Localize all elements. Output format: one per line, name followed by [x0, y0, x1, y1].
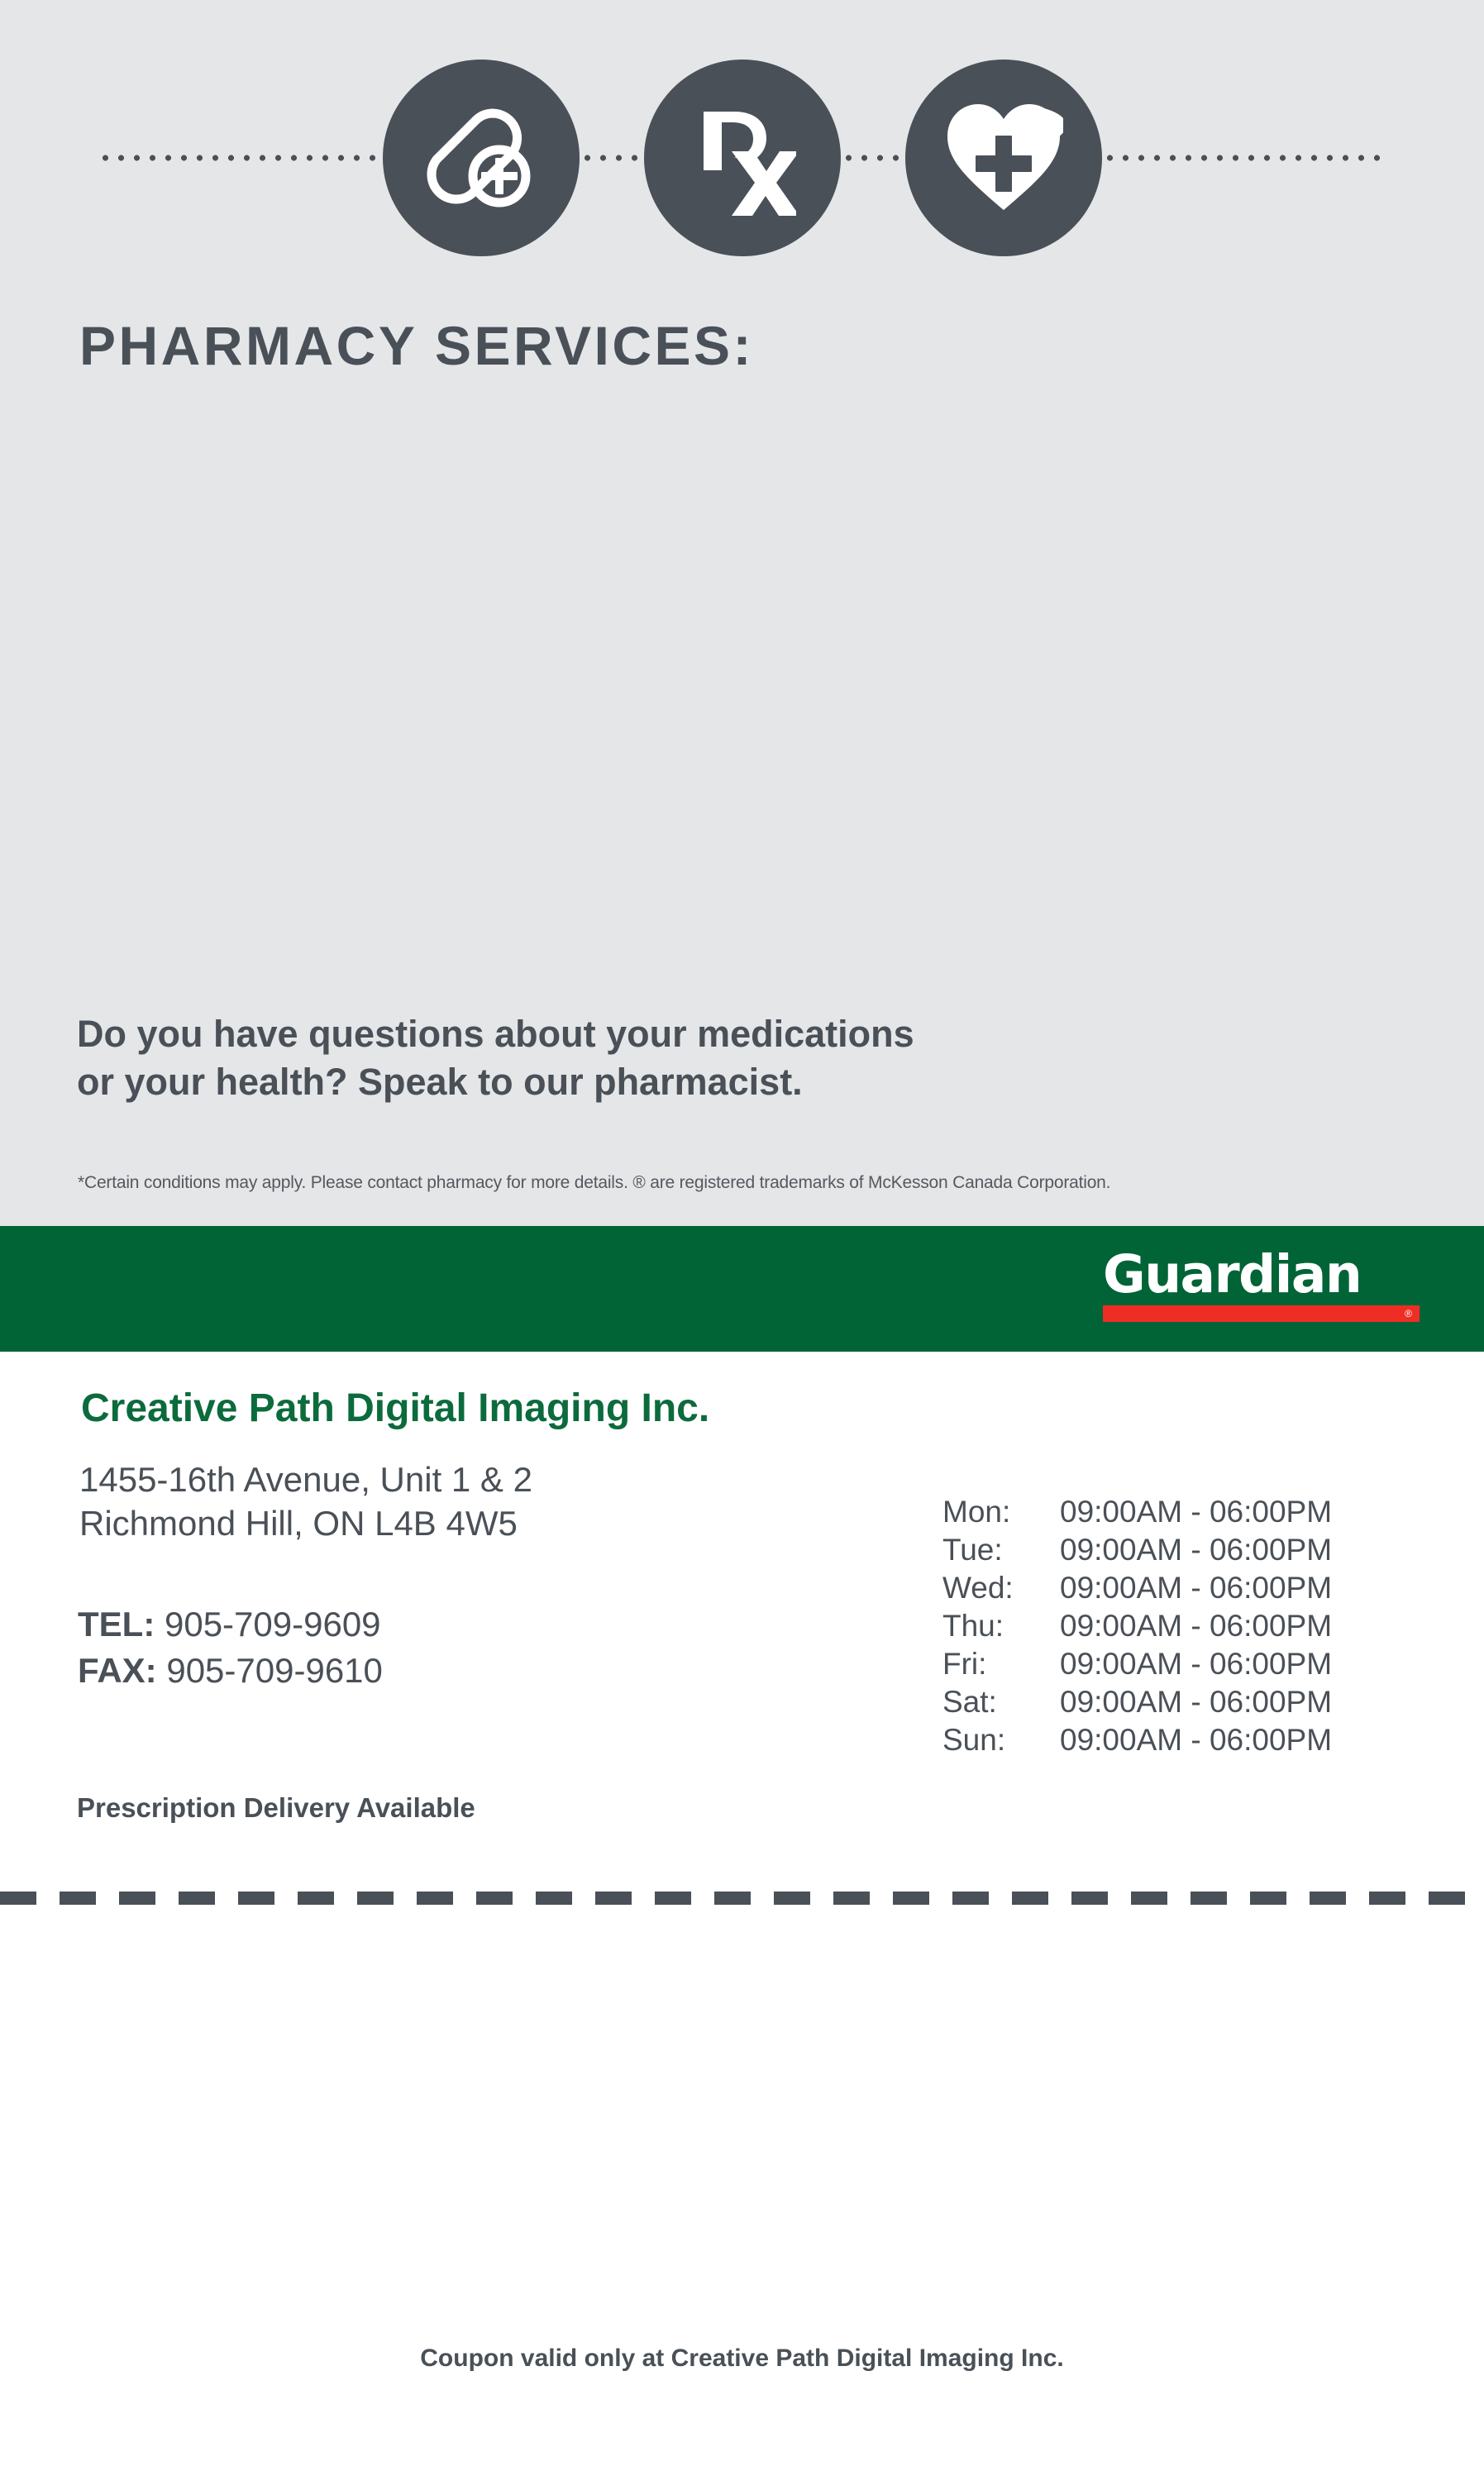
dotted-connector-middle-left: [580, 152, 644, 164]
store-address: 1455-16th Avenue, Unit 1 & 2 Richmond Hi…: [79, 1457, 532, 1546]
hours-time-value: 09:00AM - 06:00PM: [1060, 1572, 1332, 1603]
coupon-area: [0, 1905, 1484, 2476]
registered-trademark-icon: ®: [1405, 1309, 1412, 1319]
fax-label: FAX:: [78, 1651, 157, 1690]
fax-row: FAX: 905-709-9610: [78, 1648, 383, 1694]
dotted-connector-left: [98, 152, 383, 164]
hours-time-value: 09:00AM - 06:00PM: [1060, 1496, 1332, 1527]
hours-time-value: 09:00AM - 06:00PM: [1060, 1648, 1332, 1679]
pills-plus-icon: [383, 60, 580, 256]
dotted-connector-middle-right: [841, 152, 905, 164]
question-line-2: or your health? Speak to our pharmacist.: [77, 1058, 1152, 1106]
telephone-label: TEL:: [78, 1605, 155, 1644]
legal-disclaimer: *Certain conditions may apply. Please co…: [78, 1173, 1110, 1193]
coupon-validity-note: Coupon valid only at Creative Path Digit…: [0, 2345, 1484, 2373]
hours-time-value: 09:00AM - 06:00PM: [1060, 1610, 1332, 1641]
guardian-wordmark: Guardian: [1103, 1248, 1420, 1300]
hours-row: Sun: 09:00AM - 06:00PM: [942, 1725, 1332, 1763]
address-line-2: Richmond Hill, ON L4B 4W5: [79, 1501, 532, 1545]
hours-day-label: Wed:: [942, 1572, 1060, 1603]
telephone-value: 905-709-9609: [165, 1605, 381, 1644]
telephone-row: TEL: 905-709-9609: [78, 1601, 383, 1648]
pharmacist-question-text: Do you have questions about your medicat…: [77, 1010, 1152, 1105]
hours-time-value: 09:00AM - 06:00PM: [1060, 1534, 1332, 1565]
hours-day-label: Tue:: [942, 1534, 1060, 1565]
pharmacy-services-heading: PHARMACY SERVICES:: [79, 318, 754, 373]
hours-row: Fri: 09:00AM - 06:00PM: [942, 1648, 1332, 1686]
guardian-logo: Guardian ®: [1103, 1248, 1420, 1322]
store-hours-table: Mon: 09:00AM - 06:00PM Tue: 09:00AM - 06…: [942, 1496, 1332, 1763]
address-line-1: 1455-16th Avenue, Unit 1 & 2: [79, 1457, 532, 1501]
coupon-cut-line: [0, 1892, 1484, 1905]
hours-day-label: Thu:: [942, 1610, 1060, 1641]
guardian-brand-band: Guardian ®: [0, 1226, 1484, 1352]
hours-row: Mon: 09:00AM - 06:00PM: [942, 1496, 1332, 1534]
fax-value: 905-709-9610: [166, 1651, 383, 1690]
hours-day-label: Mon:: [942, 1496, 1060, 1527]
pharmacy-flyer-page: PHARMACY SERVICES: Do you have questions…: [0, 0, 1484, 2476]
hours-day-label: Sun:: [942, 1725, 1060, 1755]
prescription-delivery-note: Prescription Delivery Available: [77, 1792, 475, 1824]
hours-row: Sat: 09:00AM - 06:00PM: [942, 1686, 1332, 1725]
hours-time-value: 09:00AM - 06:00PM: [1060, 1725, 1332, 1755]
question-line-1: Do you have questions about your medicat…: [77, 1010, 1152, 1058]
rx-icon: [644, 60, 841, 256]
guardian-red-bar: ®: [1103, 1305, 1420, 1322]
hours-row: Wed: 09:00AM - 06:00PM: [942, 1572, 1332, 1610]
pharmacy-services-panel: PHARMACY SERVICES: Do you have questions…: [0, 0, 1484, 1226]
store-name: Creative Path Digital Imaging Inc.: [81, 1389, 709, 1429]
hours-day-label: Fri:: [942, 1648, 1060, 1679]
heart-plus-icon: [905, 60, 1102, 256]
service-icon-strip: [0, 50, 1484, 266]
hours-row: Tue: 09:00AM - 06:00PM: [942, 1534, 1332, 1572]
hours-row: Thu: 09:00AM - 06:00PM: [942, 1610, 1332, 1648]
hours-time-value: 09:00AM - 06:00PM: [1060, 1686, 1332, 1717]
dotted-connector-right: [1102, 152, 1387, 164]
store-contact-numbers: TEL: 905-709-9609 FAX: 905-709-9610: [78, 1601, 383, 1695]
hours-day-label: Sat:: [942, 1686, 1060, 1717]
